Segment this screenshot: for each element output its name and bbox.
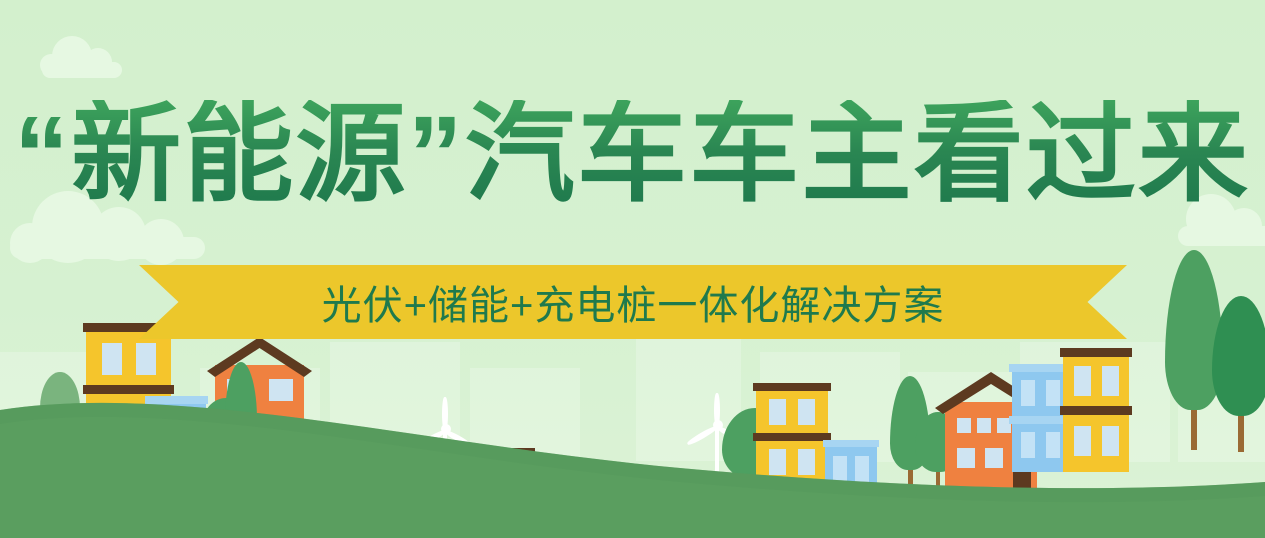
cloud-mid-left-icon [10, 237, 205, 259]
cloud-top-right-icon [1178, 226, 1265, 246]
foreground-hill [0, 348, 1265, 538]
poster-canvas: “新能源”汽车车主看过来 光伏+储能+充电桩一体化解决方案 [0, 0, 1265, 538]
cloud-top-left-icon [42, 62, 122, 78]
poster-subtitle: 光伏+储能+充电桩一体化解决方案 [139, 265, 1127, 339]
subtitle-ribbon: 光伏+储能+充电桩一体化解决方案 [139, 265, 1127, 339]
